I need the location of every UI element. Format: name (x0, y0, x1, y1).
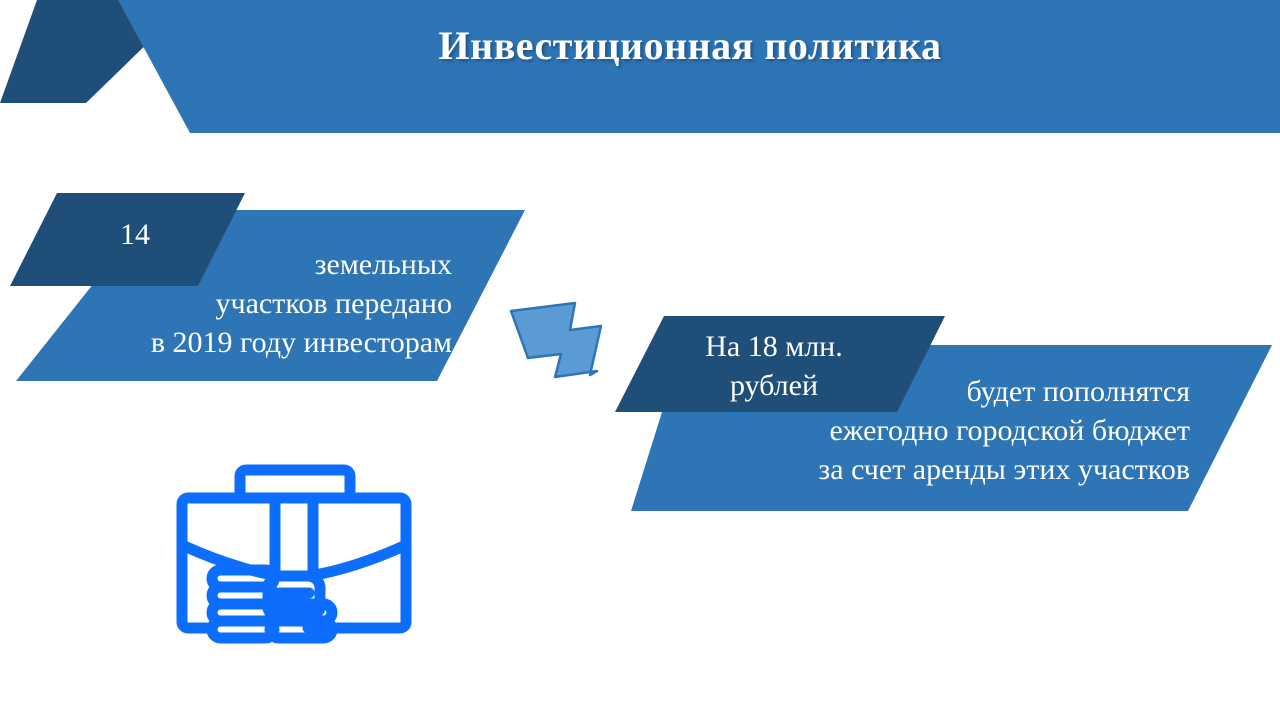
arrow-right-down-icon (511, 303, 601, 377)
slide-canvas: Инвестиционная политика 14 земельных уча… (0, 0, 1280, 714)
right-block-body-text: будет пополнятся ежегодно городской бюдж… (660, 372, 1190, 489)
briefcase-with-coins-icon (160, 428, 430, 650)
page-title: Инвестиционная политика (200, 22, 1180, 69)
header-dark-parallelogram (0, 0, 192, 103)
left-block-body-text: земельных участков передано в 2019 году … (40, 245, 452, 362)
briefcase-flap-right (308, 545, 406, 576)
header-banner (0, 0, 1280, 140)
